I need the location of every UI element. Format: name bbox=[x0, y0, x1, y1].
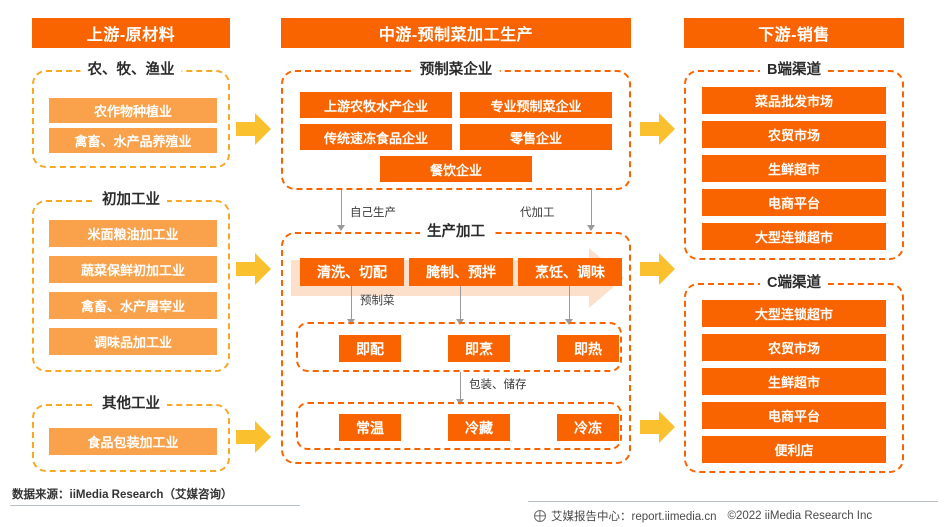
flow-arrow-upstream-to-mid-1 bbox=[236, 112, 272, 146]
group-title: 生产加工 bbox=[420, 223, 492, 241]
upstream-group-other-industry: 其他工业 食品包装加工业 bbox=[32, 404, 230, 472]
downstream-b-chip-ecommerce-platform[interactable]: 电商平台 bbox=[702, 189, 886, 216]
upstream-chip-grain-oil[interactable]: 米面粮油加工业 bbox=[49, 220, 217, 247]
midstream-group-enterprises: 预制菜企业 上游农牧水产企业 专业预制菜企业 传统速冻食品企业 零售企业 餐饮企… bbox=[281, 70, 631, 190]
upstream-chip-slaughter[interactable]: 禽畜、水产屠宰业 bbox=[49, 292, 217, 319]
globe-icon bbox=[534, 510, 546, 522]
connector-line-oem bbox=[591, 190, 592, 228]
connector-line-self-production bbox=[341, 190, 342, 228]
upstream-chip-crop-farming[interactable]: 农作物种植业 bbox=[49, 98, 217, 123]
midstream-header: 中游-预制菜加工生产 bbox=[281, 18, 631, 48]
downstream-b-chip-farmers-market[interactable]: 农贸市场 bbox=[702, 121, 886, 148]
connector-line-prepared-3 bbox=[569, 286, 570, 322]
downstream-b-chip-large-chain-supermarket[interactable]: 大型连锁超市 bbox=[702, 223, 886, 250]
downstream-c-chip-large-chain-supermarket[interactable]: 大型连锁超市 bbox=[702, 300, 886, 327]
upstream-chip-food-packaging[interactable]: 食品包装加工业 bbox=[49, 428, 217, 455]
copyright-label: ©2022 iiMedia Research Inc bbox=[728, 510, 873, 522]
group-title: C端渠道 bbox=[760, 274, 828, 292]
midstream-chip-frozen-food-firms[interactable]: 传统速冻食品企业 bbox=[300, 124, 452, 150]
midstream-subgroup-storage-types: 常温 冷藏 冷冻 bbox=[296, 402, 622, 450]
process-chip-wash-cut[interactable]: 清洗、切配 bbox=[300, 258, 404, 286]
storage-chip-ambient[interactable]: 常温 bbox=[339, 414, 401, 441]
connector-arrowhead-oem bbox=[587, 225, 595, 231]
connector-label-packaging: 包装、储存 bbox=[469, 376, 527, 392]
connector-line-packaging bbox=[460, 372, 461, 402]
process-chip-cook-season[interactable]: 烹饪、调味 bbox=[518, 258, 622, 286]
flow-arrow-mid-to-downstream-2 bbox=[640, 252, 676, 286]
downstream-c-chip-fresh-supermarket[interactable]: 生鲜超市 bbox=[702, 368, 886, 395]
connector-label-self-production: 自己生产 bbox=[350, 204, 396, 220]
report-center-footer: 艾媒报告中心：report.iimedia.cn ©2022 iiMedia R… bbox=[534, 508, 872, 524]
midstream-chip-upstream-agri-firms[interactable]: 上游农牧水产企业 bbox=[300, 92, 452, 118]
downstream-c-chip-farmers-market[interactable]: 农贸市场 bbox=[702, 334, 886, 361]
group-title: 初加工业 bbox=[95, 191, 167, 209]
flow-arrow-mid-to-downstream-3 bbox=[640, 410, 676, 444]
downstream-c-chip-ecommerce-platform[interactable]: 电商平台 bbox=[702, 402, 886, 429]
flow-arrow-upstream-to-mid-2 bbox=[236, 252, 272, 286]
group-title: B端渠道 bbox=[760, 61, 828, 79]
prepared-chip-ready-to-assemble[interactable]: 即配 bbox=[339, 335, 401, 362]
process-chip-marinate-mix[interactable]: 腌制、预拌 bbox=[409, 258, 513, 286]
prepared-chip-ready-to-heat[interactable]: 即热 bbox=[557, 335, 619, 362]
connector-label-oem: 代加工 bbox=[520, 204, 555, 220]
upstream-chip-vegetable-preservation[interactable]: 蔬菜保鲜初加工业 bbox=[49, 256, 217, 283]
report-center-label[interactable]: 艾媒报告中心：report.iimedia.cn bbox=[551, 508, 717, 524]
upstream-group-agriculture: 农、牧、渔业 农作物种植业 禽畜、水产品养殖业 bbox=[32, 70, 230, 168]
connector-label-prepared-dish: 预制菜 bbox=[360, 292, 395, 308]
footer-divider-right bbox=[528, 501, 938, 502]
midstream-chip-professional-prepared-food-firms[interactable]: 专业预制菜企业 bbox=[460, 92, 612, 118]
connector-line-prepared-2 bbox=[460, 286, 461, 322]
storage-chip-refrigerated[interactable]: 冷藏 bbox=[448, 414, 510, 441]
connector-arrowhead-self-production bbox=[337, 225, 345, 231]
infographic-root: 上游-原材料 农、牧、渔业 农作物种植业 禽畜、水产品养殖业 初加工业 米面粮油… bbox=[0, 0, 947, 527]
midstream-chip-retail-firms[interactable]: 零售企业 bbox=[460, 124, 612, 150]
midstream-group-production: 生产加工 清洗、切配 腌制、预拌 烹饪、调味 预制菜 即配 即烹 即热 包装、储… bbox=[281, 232, 631, 464]
midstream-chip-catering-firms[interactable]: 餐饮企业 bbox=[380, 156, 532, 182]
midstream-subgroup-prepared-types: 即配 即烹 即热 bbox=[296, 322, 622, 372]
downstream-header: 下游-销售 bbox=[684, 18, 904, 48]
group-title: 预制菜企业 bbox=[413, 61, 500, 79]
upstream-group-primary-processing: 初加工业 米面粮油加工业 蔬菜保鲜初加工业 禽畜、水产屠宰业 调味品加工业 bbox=[32, 200, 230, 372]
downstream-b-chip-fresh-supermarket[interactable]: 生鲜超市 bbox=[702, 155, 886, 182]
prepared-chip-ready-to-cook[interactable]: 即烹 bbox=[448, 335, 510, 362]
upstream-header: 上游-原材料 bbox=[32, 18, 230, 48]
data-source-note: 数据来源：iiMedia Research（艾媒咨询） bbox=[12, 486, 232, 502]
storage-chip-frozen[interactable]: 冷冻 bbox=[557, 414, 619, 441]
flow-arrow-mid-to-downstream-1 bbox=[640, 112, 676, 146]
flow-arrow-upstream-to-mid-3 bbox=[236, 420, 272, 454]
downstream-group-b-channel: B端渠道 菜品批发市场 农贸市场 生鲜超市 电商平台 大型连锁超市 bbox=[684, 70, 904, 260]
group-title: 农、牧、渔业 bbox=[81, 61, 182, 79]
upstream-chip-condiment[interactable]: 调味品加工业 bbox=[49, 328, 217, 355]
footer-divider-left bbox=[10, 505, 300, 506]
downstream-b-chip-wholesale-market[interactable]: 菜品批发市场 bbox=[702, 87, 886, 114]
downstream-c-chip-convenience-store[interactable]: 便利店 bbox=[702, 436, 886, 463]
group-title: 其他工业 bbox=[95, 395, 167, 413]
downstream-group-c-channel: C端渠道 大型连锁超市 农贸市场 生鲜超市 电商平台 便利店 bbox=[684, 283, 904, 473]
connector-line-prepared-1 bbox=[351, 286, 352, 322]
upstream-chip-livestock-aquaculture[interactable]: 禽畜、水产品养殖业 bbox=[49, 128, 217, 153]
